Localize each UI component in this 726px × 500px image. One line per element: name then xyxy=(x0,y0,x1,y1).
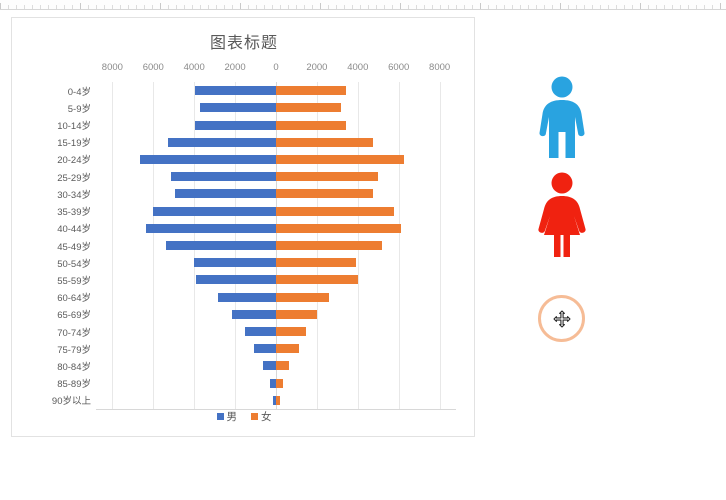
ruler-tick xyxy=(48,5,49,9)
ruler-tick xyxy=(264,5,265,9)
ruler-tick xyxy=(488,5,489,9)
ruler-tick xyxy=(408,5,409,9)
bar-male[interactable] xyxy=(153,207,276,216)
bar-female[interactable] xyxy=(276,258,356,267)
ruler-tick xyxy=(712,5,713,9)
bar-male[interactable] xyxy=(196,275,276,284)
ruler-tick xyxy=(448,5,449,9)
bar-female[interactable] xyxy=(276,155,404,164)
bar-female[interactable] xyxy=(276,361,289,370)
ruler-tick xyxy=(304,5,305,9)
ruler-tick xyxy=(256,5,257,9)
y-axis-category-label: 70-74岁 xyxy=(57,325,91,339)
y-axis-category-label: 55-59岁 xyxy=(57,273,91,287)
y-axis-category-label: 0-4岁 xyxy=(68,84,91,98)
bar-male[interactable] xyxy=(168,138,276,147)
x-axis-tick-label: 2000 xyxy=(306,62,327,73)
ruler-tick xyxy=(232,5,233,9)
bar-female[interactable] xyxy=(276,275,358,284)
x-axis-tick-label: 4000 xyxy=(347,62,368,73)
ruler-tick xyxy=(664,5,665,9)
chart-container[interactable]: 图表标题 800060004000200002000400060008000 0… xyxy=(11,17,475,437)
ruler-tick xyxy=(608,5,609,9)
ruler-tick xyxy=(112,5,113,9)
bar-male[interactable] xyxy=(166,241,276,250)
ruler-tick xyxy=(600,5,601,9)
ruler-tick xyxy=(464,5,465,9)
y-axis-category-label: 65-69岁 xyxy=(57,307,91,321)
ruler-tick xyxy=(200,5,201,9)
ruler-tick xyxy=(192,5,193,9)
ruler-tick xyxy=(368,5,369,9)
bar-male[interactable] xyxy=(263,361,276,370)
bar-male[interactable] xyxy=(195,121,276,130)
bar-female[interactable] xyxy=(276,241,382,250)
ruler-tick xyxy=(88,5,89,9)
bar-male[interactable] xyxy=(171,172,276,181)
ruler-tick xyxy=(576,5,577,9)
ruler-tick xyxy=(704,5,705,9)
ruler-tick xyxy=(288,5,289,9)
y-axis-category-label: 45-49岁 xyxy=(57,239,91,253)
bar-female[interactable] xyxy=(276,121,346,130)
bar-female[interactable] xyxy=(276,344,299,353)
ruler-tick xyxy=(208,5,209,9)
ruler-tick xyxy=(536,5,537,9)
ruler-tick xyxy=(96,5,97,9)
bar-male[interactable] xyxy=(146,224,276,233)
ruler-tick xyxy=(480,3,481,9)
ruler-tick xyxy=(440,5,441,9)
ruler-tick xyxy=(120,5,121,9)
ruler-tick xyxy=(136,5,137,9)
ruler-tick xyxy=(80,3,81,9)
ruler-tick xyxy=(360,5,361,9)
y-axis-category-labels: 0-4岁5-9岁10-14岁15-19岁20-24岁25-29岁30-34岁35… xyxy=(12,82,91,409)
ruler-tick xyxy=(680,5,681,9)
y-axis-category-label: 85-89岁 xyxy=(57,376,91,390)
bar-female[interactable] xyxy=(276,103,341,112)
ruler-tick xyxy=(64,5,65,9)
ruler-tick xyxy=(552,5,553,9)
ruler-tick xyxy=(392,5,393,9)
ruler-tick xyxy=(544,5,545,9)
bar-female[interactable] xyxy=(276,396,280,405)
ruler-tick xyxy=(224,5,225,9)
ruler-tick xyxy=(720,3,721,9)
ruler-tick xyxy=(520,5,521,9)
ruler-tick xyxy=(528,5,529,9)
ruler-tick xyxy=(56,5,57,9)
bar-female[interactable] xyxy=(276,379,283,388)
bar-female[interactable] xyxy=(276,189,373,198)
ruler-tick xyxy=(280,5,281,9)
bar-female[interactable] xyxy=(276,224,401,233)
ruler-tick xyxy=(40,5,41,9)
legend-swatch xyxy=(217,413,224,420)
y-axis-category-label: 80-84岁 xyxy=(57,359,91,373)
y-axis-category-label: 30-34岁 xyxy=(57,187,91,201)
ruler-tick xyxy=(592,5,593,9)
x-axis-tick-label: 2000 xyxy=(225,62,246,73)
ruler-tick xyxy=(384,5,385,9)
legend-swatch xyxy=(251,413,258,420)
bar-female[interactable] xyxy=(276,310,317,319)
y-axis-category-label: 10-14岁 xyxy=(57,118,91,132)
bar-female[interactable] xyxy=(276,207,394,216)
ruler-tick xyxy=(248,5,249,9)
bar-female[interactable] xyxy=(276,327,306,336)
bar-male[interactable] xyxy=(194,258,276,267)
ruler-tick xyxy=(400,3,401,9)
ruler-tick xyxy=(456,5,457,9)
ruler-tick xyxy=(344,5,345,9)
ruler-tick xyxy=(160,3,161,9)
ruler-tick xyxy=(272,5,273,9)
legend-label: 女 xyxy=(261,409,272,424)
ruler-tick xyxy=(504,5,505,9)
ruler-tick xyxy=(32,5,33,9)
ruler-tick xyxy=(104,5,105,9)
bar-male[interactable] xyxy=(140,155,276,164)
bar-female[interactable] xyxy=(276,138,373,147)
bar-male[interactable] xyxy=(254,344,277,353)
ruler-tick xyxy=(328,5,329,9)
bar-female[interactable] xyxy=(276,86,346,95)
female-figure-icon xyxy=(536,172,588,265)
bar-female[interactable] xyxy=(276,293,329,302)
y-axis-category-label: 60-64岁 xyxy=(57,290,91,304)
ruler-tick xyxy=(648,5,649,9)
ruler-tick xyxy=(240,3,241,9)
bar-female[interactable] xyxy=(276,172,378,181)
ruler-tick xyxy=(8,5,9,9)
cursor-highlight-circle xyxy=(538,295,585,342)
ruler-tick xyxy=(176,5,177,9)
y-axis-category-label: 25-29岁 xyxy=(57,170,91,184)
ruler-tick xyxy=(312,5,313,9)
x-axis-tick-label: 8000 xyxy=(102,62,123,73)
ruler-tick xyxy=(584,5,585,9)
gridline xyxy=(399,82,400,409)
chart-title[interactable]: 图表标题 xyxy=(12,29,476,53)
y-axis-category-label: 40-44岁 xyxy=(57,221,91,235)
bar-male[interactable] xyxy=(245,327,276,336)
legend-item[interactable]: 女 xyxy=(251,409,272,424)
ruler-tick xyxy=(0,3,1,9)
legend-label: 男 xyxy=(227,409,238,424)
bar-male[interactable] xyxy=(218,293,276,302)
ruler-tick xyxy=(320,3,321,9)
y-axis-category-label: 90岁以上 xyxy=(52,393,91,407)
ruler-tick xyxy=(568,5,569,9)
gridline xyxy=(153,82,154,409)
ruler-tick xyxy=(144,5,145,9)
y-axis-category-label: 5-9岁 xyxy=(68,101,91,115)
male-figure-icon xyxy=(536,76,588,165)
chart-legend[interactable]: 男女 xyxy=(12,409,476,424)
ruler-tick xyxy=(416,5,417,9)
ruler-tick xyxy=(560,3,561,9)
ruler-tick xyxy=(168,5,169,9)
y-axis-category-label: 35-39岁 xyxy=(57,204,91,218)
ruler-tick xyxy=(624,5,625,9)
ruler-tick xyxy=(72,5,73,9)
ruler-tick xyxy=(632,5,633,9)
ruler-tick xyxy=(296,5,297,9)
ruler-tick xyxy=(424,5,425,9)
ruler-tick xyxy=(496,5,497,9)
ruler-tick xyxy=(616,5,617,9)
ruler-tick xyxy=(640,3,641,9)
ruler-tick xyxy=(376,5,377,9)
gridline xyxy=(440,82,441,409)
bar-male[interactable] xyxy=(175,189,276,198)
bar-male[interactable] xyxy=(200,103,276,112)
ruler-tick xyxy=(128,5,129,9)
ruler-tick xyxy=(216,5,217,9)
ruler-bar xyxy=(0,0,726,10)
x-axis-tick-labels: 800060004000200002000400060008000 xyxy=(12,62,476,78)
ruler-tick xyxy=(152,5,153,9)
ruler-tick xyxy=(24,5,25,9)
x-axis-tick-label: 6000 xyxy=(388,62,409,73)
ruler-tick xyxy=(656,5,657,9)
y-axis-category-label: 15-19岁 xyxy=(57,135,91,149)
plot-area[interactable] xyxy=(96,82,456,409)
ruler-tick xyxy=(688,5,689,9)
ruler-tick xyxy=(184,5,185,9)
ruler-tick xyxy=(352,5,353,9)
x-axis-tick-label: 4000 xyxy=(184,62,205,73)
ruler-tick xyxy=(672,5,673,9)
x-axis-tick-label: 0 xyxy=(273,62,278,73)
legend-item[interactable]: 男 xyxy=(217,409,238,424)
y-axis-category-label: 75-79岁 xyxy=(57,342,91,356)
gridline xyxy=(112,82,113,409)
ruler-tick xyxy=(512,5,513,9)
y-axis-category-label: 20-24岁 xyxy=(57,152,91,166)
ruler-tick xyxy=(336,5,337,9)
bar-male[interactable] xyxy=(195,86,276,95)
x-axis-tick-label: 6000 xyxy=(143,62,164,73)
ruler-tick xyxy=(16,5,17,9)
y-axis-category-label: 50-54岁 xyxy=(57,256,91,270)
ruler-tick xyxy=(472,5,473,9)
ruler-tick xyxy=(432,5,433,9)
x-axis-tick-label: 8000 xyxy=(429,62,450,73)
bar-male[interactable] xyxy=(232,310,276,319)
ruler-tick xyxy=(696,5,697,9)
move-cursor-icon xyxy=(553,310,571,328)
